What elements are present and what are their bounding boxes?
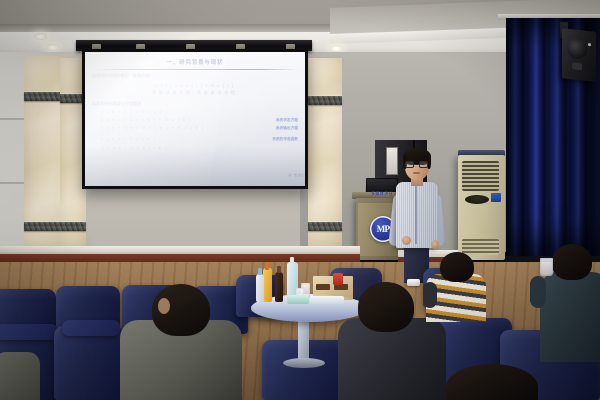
audience-center-head	[358, 282, 414, 332]
speaker-tweeter	[572, 62, 582, 70]
slide-row-math: G ( z ) = C ( z I - F )	[101, 145, 168, 150]
seminar-room-photo: 一、研究背景与现状 连续时间系统的模型（系统方程） x ( t ) = A x …	[0, 0, 600, 400]
audience-with-cup-arm	[530, 276, 546, 308]
slide-subline: 系统状态方程 系统输出方程	[92, 91, 298, 96]
slide-row: G ( z ) = C ( z I - F )	[92, 145, 298, 150]
air-conditioner	[458, 155, 505, 260]
slide-content: 一、研究背景与现状 连续时间系统的模型（系统方程） x ( t ) = A x …	[92, 58, 298, 181]
held-paper-cup[interactable]	[540, 258, 553, 276]
slide-row: y ( k ) = C x ( k ) + D u ( k ) 系统状态方程	[92, 117, 298, 123]
ac-badge	[491, 193, 501, 202]
slide-row: x ( k + 1 ) = G x ( k ) + H u ( k ) 系统输出…	[92, 125, 298, 131]
table-stem	[298, 315, 309, 363]
downlight-icon	[330, 45, 343, 52]
projection-screen[interactable]: 一、研究背景与现状 连续时间系统的模型（系统方程） x ( t ) = A x …	[82, 49, 308, 189]
slide-line-1: 连续时间系统的模型（系统方程）	[92, 73, 298, 79]
ac-vent	[465, 195, 489, 204]
audience-striped-head	[440, 252, 474, 282]
slide-section-2: 离散系统的模型与方程描述	[92, 101, 298, 107]
audience-with-cup-head	[552, 244, 592, 280]
presenter-hand-right	[431, 240, 439, 249]
slide-equation: x ( t ) = A x ( t ) + B u ( t )	[92, 83, 298, 88]
glasses-icon	[405, 161, 429, 168]
downlight-icon	[46, 44, 59, 51]
granite-band	[308, 96, 342, 105]
marble-wall-panel	[308, 58, 342, 246]
slide-row-note: 系统状态方程	[276, 118, 298, 123]
tissue-pack[interactable]	[310, 296, 344, 304]
emblem-letters: MP	[377, 224, 390, 234]
speaker-cone	[567, 38, 587, 60]
presentation-clicker[interactable]	[407, 279, 420, 286]
audience-striped-arm	[423, 282, 437, 308]
slide-title-rule	[92, 69, 298, 70]
snack-can[interactable]	[333, 273, 343, 285]
chair[interactable]	[54, 326, 124, 400]
audience-far-left-body	[0, 352, 40, 400]
audience-with-cup-body	[540, 272, 600, 362]
slide-row-math: y ( k ) = C x ( k )	[101, 136, 156, 141]
downlight-icon	[34, 33, 47, 40]
slide-watermark: 第一章 绪论	[288, 173, 304, 177]
presenter-mouth	[413, 172, 420, 174]
slide-row-math: x ( k + 1 ) = G x ( k ) + H u ( k )	[101, 125, 204, 130]
snack-item[interactable]	[316, 284, 330, 290]
audience-front-left-ear	[158, 298, 170, 314]
ac-grille	[462, 161, 499, 191]
slide-row-note: 系统输出方程	[276, 126, 298, 131]
slide-title: 一、研究背景与现状	[92, 58, 298, 66]
water-bottle[interactable]	[256, 274, 264, 302]
granite-band	[308, 222, 342, 231]
slide-row: y ( k ) = C x ( k ) 系统的传递函数	[92, 136, 298, 142]
table-base	[283, 358, 325, 368]
granite-band	[24, 222, 86, 231]
slide-row-math: y ( k ) = C x ( k ) + D u ( k )	[101, 117, 192, 122]
speaker-led	[588, 43, 591, 46]
cola-bottle[interactable]	[275, 272, 283, 302]
wall-speaker-icon	[562, 28, 596, 82]
slide-row-math: x ( k + 1 ) = F x ( k )	[101, 109, 168, 114]
presenter-shirt-placket	[415, 186, 417, 244]
av-rack-panel	[386, 147, 398, 175]
slide-row: x ( k + 1 ) = F x ( k )	[92, 109, 298, 114]
presenter-hand-left	[402, 236, 411, 245]
napkin-pack[interactable]	[287, 295, 309, 304]
ac-lower-grille	[462, 239, 499, 255]
slide-row-note: 系统的传递函数	[272, 137, 298, 142]
orange-juice-bottle[interactable]	[263, 268, 272, 302]
